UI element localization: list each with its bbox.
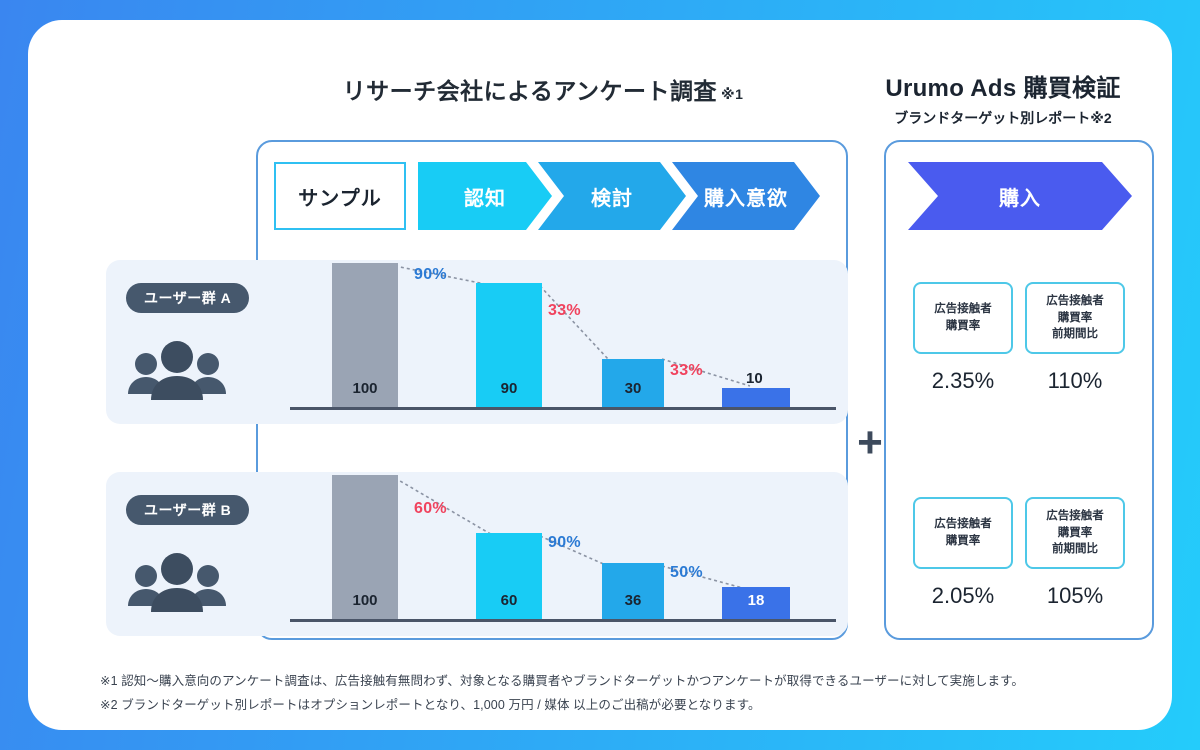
chart-group-b: 100 60 36 18 60% 90% 50% xyxy=(290,472,836,622)
footnote-1: ※1 認知～購入意向のアンケート調査は、広告接触有無問わず、対象となる購買者やブ… xyxy=(100,670,1130,694)
purchase-stage-bar: 購入 xyxy=(908,162,1132,230)
bar-awareness-a: 90 xyxy=(476,283,542,407)
rate-awareness-to-consideration-a: 33% xyxy=(548,302,581,320)
funnel-stage-bar: サンプル 認知 検討 購入意欲 xyxy=(274,162,806,230)
bar-intent-a xyxy=(722,388,790,407)
funnel-stage-consideration[interactable]: 検討 xyxy=(538,162,686,230)
funnel-stage-purchase[interactable]: 購入 xyxy=(908,162,1132,230)
main-card: リサーチ会社によるアンケート調査※1 Urumo Ads 購買検証 ブランドター… xyxy=(28,20,1172,730)
metric-label-rate-a: 広告接触者購買率 xyxy=(913,282,1013,354)
bar-awareness-b: 60 xyxy=(476,533,542,619)
right-section-title: Urumo Ads 購買検証 xyxy=(858,68,1148,103)
chart-b-baseline xyxy=(290,619,836,622)
people-group-icon xyxy=(122,550,232,612)
rate-awareness-to-consideration-b: 90% xyxy=(548,534,581,552)
metrics-group-a: 広告接触者購買率 広告接触者購買率前期間比 2.35% 110% xyxy=(904,282,1134,394)
left-title-text: リサーチ会社によるアンケート調査 xyxy=(343,78,717,104)
metrics-group-b: 広告接触者購買率 広告接触者購買率前期間比 2.05% 105% xyxy=(904,497,1134,609)
bar-value-sample-a: 100 xyxy=(352,380,377,397)
rate-sample-to-awareness-b: 60% xyxy=(414,500,447,518)
bar-value-consideration-a: 30 xyxy=(625,380,642,397)
metric-value-rate-a: 2.35% xyxy=(913,368,1013,394)
metric-value-row-b: 2.05% 105% xyxy=(904,583,1134,609)
plus-icon: + xyxy=(852,426,888,462)
right-section-heading: Urumo Ads 購買検証 ブランドターゲット別レポート※2 xyxy=(858,68,1148,128)
chart-a-baseline xyxy=(290,407,836,410)
page-background: リサーチ会社によるアンケート調査※1 Urumo Ads 購買検証 ブランドター… xyxy=(0,0,1200,750)
left-title-footnote-marker: ※1 xyxy=(721,86,743,102)
rate-consideration-to-intent-a: 33% xyxy=(670,362,703,380)
bar-value-awareness-a: 90 xyxy=(501,380,518,397)
group-a-badge: ユーザー群 A xyxy=(126,283,249,313)
metric-value-yoy-a: 110% xyxy=(1025,368,1125,394)
metric-value-row-a: 2.35% 110% xyxy=(904,368,1134,394)
bar-sample-b: 100 xyxy=(332,475,398,619)
left-section-title: リサーチ会社によるアンケート調査※1 xyxy=(233,72,853,106)
chart-group-a: 100 90 30 10 90% 33% 33% xyxy=(290,260,836,410)
metric-label-yoy-a: 広告接触者購買率前期間比 xyxy=(1025,282,1125,354)
rate-sample-to-awareness-a: 90% xyxy=(414,266,447,284)
metric-label-yoy-b: 広告接触者購買率前期間比 xyxy=(1025,497,1125,569)
bar-intent-b: 18 xyxy=(722,587,790,619)
metric-label-row-a: 広告接触者購買率 広告接触者購買率前期間比 xyxy=(904,282,1134,354)
metric-label-row-b: 広告接触者購買率 広告接触者購買率前期間比 xyxy=(904,497,1134,569)
bar-value-sample-b: 100 xyxy=(352,592,377,609)
bar-value-intent-b: 18 xyxy=(748,592,765,609)
people-group-icon xyxy=(122,338,232,400)
metric-value-rate-b: 2.05% xyxy=(913,583,1013,609)
group-b-badge: ユーザー群 B xyxy=(126,495,249,525)
bar-consideration-a: 30 xyxy=(602,359,664,407)
bar-value-awareness-b: 60 xyxy=(501,592,518,609)
metric-value-yoy-b: 105% xyxy=(1025,583,1125,609)
metric-label-rate-b: 広告接触者購買率 xyxy=(913,497,1013,569)
bar-value-intent-a: 10 xyxy=(746,370,763,387)
bar-consideration-b: 36 xyxy=(602,563,664,619)
footnote-2: ※2 ブランドターゲット別レポートはオプションレポートとなり、1,000 万円 … xyxy=(100,694,1130,718)
funnel-stage-intent[interactable]: 購入意欲 xyxy=(672,162,820,230)
bar-value-consideration-b: 36 xyxy=(625,592,642,609)
bar-sample-a: 100 xyxy=(332,263,398,407)
funnel-stage-sample[interactable]: サンプル xyxy=(274,162,406,230)
footnotes: ※1 認知～購入意向のアンケート調査は、広告接触有無問わず、対象となる購買者やブ… xyxy=(100,670,1130,718)
rate-consideration-to-intent-b: 50% xyxy=(670,564,703,582)
funnel-stage-awareness[interactable]: 認知 xyxy=(418,162,552,230)
right-section-subtitle: ブランドターゲット別レポート※2 xyxy=(858,108,1148,128)
